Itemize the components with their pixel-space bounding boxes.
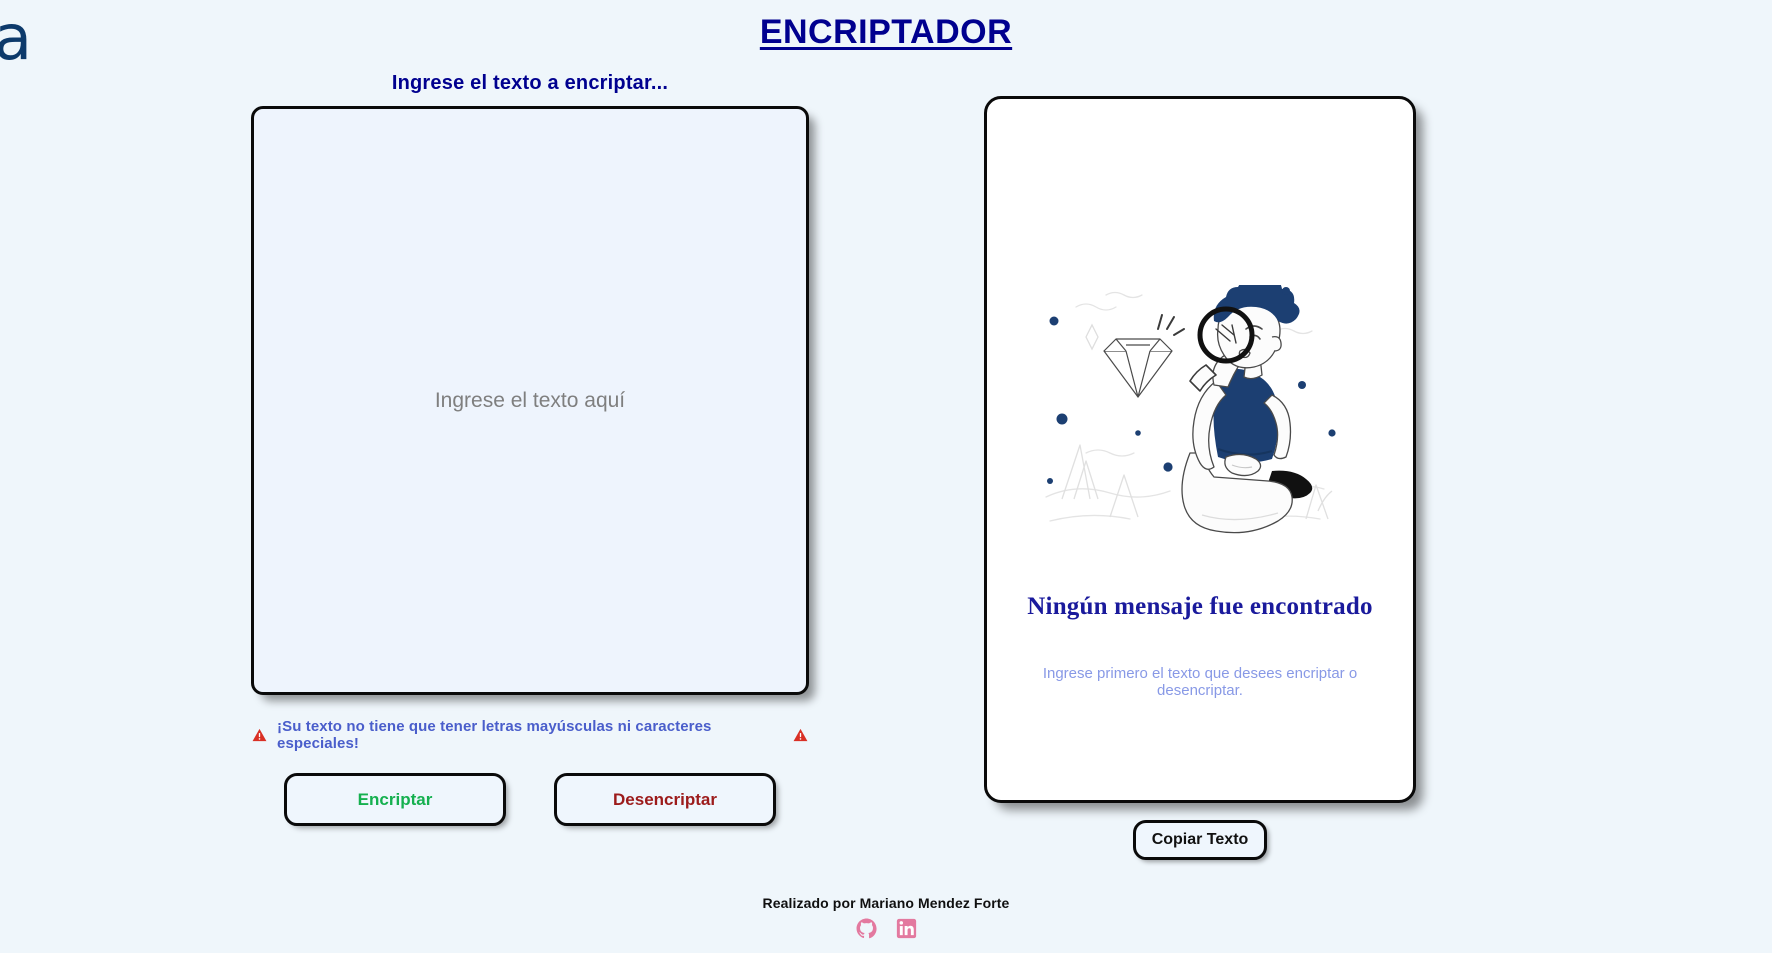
encrypt-button[interactable]: Encriptar [284,773,506,826]
footer-credit: Realizado por Mariano Mendez Forte [0,895,1772,911]
input-placeholder: Ingrese el texto aquí [435,389,625,413]
text-input-area[interactable]: Ingrese el texto aquí [251,106,809,695]
linkedin-icon[interactable] [896,918,917,939]
warning-triangle-icon [251,727,268,743]
decrypt-button[interactable]: Desencriptar [554,773,776,826]
result-subtitle: Ingrese primero el texto que desees encr… [987,665,1413,699]
result-panel: Ningún mensaje fue encontrado Ingrese pr… [984,96,1416,860]
warning-text: ¡Su texto no tiene que tener letras mayú… [277,718,783,752]
footer: Realizado por Mariano Mendez Forte [0,895,1772,939]
warning-triangle-icon [792,727,809,743]
copy-button-row: Copiar Texto [984,820,1416,860]
result-card: Ningún mensaje fue encontrado Ingrese pr… [984,96,1416,803]
input-panel-label: Ingrese el texto a encriptar... [251,72,809,95]
input-textarea-wrapper: Ingrese el texto aquí [251,106,809,695]
footer-social-links [0,918,1772,939]
input-warning-message: ¡Su texto no tiene que tener letras mayú… [251,718,809,752]
action-button-row: Encriptar Desencriptar [251,773,809,826]
github-icon[interactable] [856,918,877,939]
page-title: ENCRIPTADOR [0,13,1772,52]
input-panel: Ingrese el texto a encriptar... Ingrese … [251,72,809,826]
copy-text-button[interactable]: Copiar Texto [1133,820,1268,860]
person-with-magnifier-and-diamond-illustration [1040,285,1360,565]
result-title: Ningún mensaje fue encontrado [1027,593,1372,621]
